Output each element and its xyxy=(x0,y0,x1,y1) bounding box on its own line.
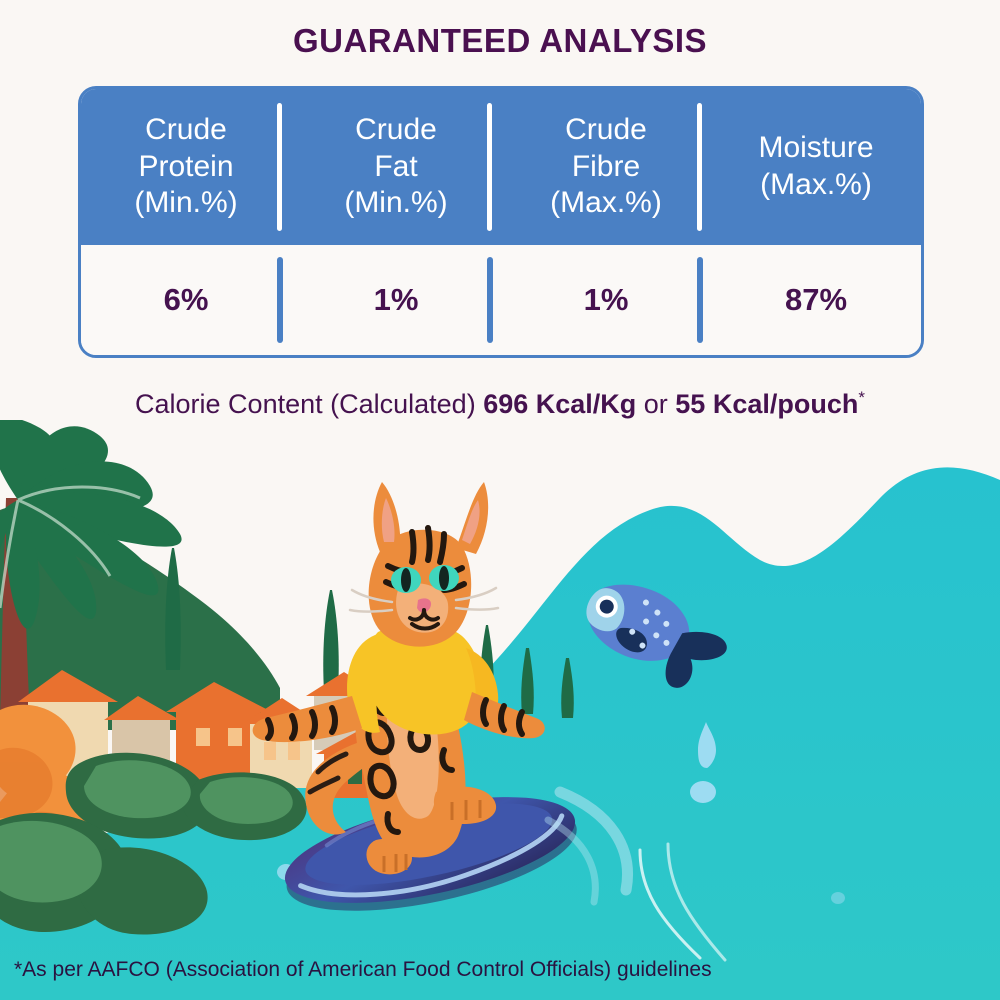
header-line: Fibre xyxy=(572,149,640,186)
header-line: Protein xyxy=(138,149,233,186)
calorie-asterisk: * xyxy=(858,388,865,407)
header-line: Crude xyxy=(565,112,647,149)
value-divider-2 xyxy=(487,257,493,343)
header-line: (Max.%) xyxy=(550,185,662,222)
header-line: (Max.%) xyxy=(760,167,872,204)
header-cell-moisture: Moisture (Max.%) xyxy=(711,89,921,245)
header-cell-crude-fat: Crude Fat (Min.%) xyxy=(291,89,501,245)
header-cell-crude-protein: Crude Protein (Min.%) xyxy=(81,89,291,245)
value-divider-3 xyxy=(697,257,703,343)
calorie-separator: or xyxy=(636,389,675,419)
header-line: Moisture xyxy=(758,130,873,167)
value-cell-crude-fibre: 1% xyxy=(501,245,711,355)
header-line: (Min.%) xyxy=(344,185,447,222)
calorie-value-per-pouch: 55 Kcal/pouch xyxy=(675,389,858,419)
table-header-row: Crude Protein (Min.%) Crude Fat (Min.%) … xyxy=(81,89,921,245)
header-cell-crude-fibre: Crude Fibre (Max.%) xyxy=(501,89,711,245)
header-line: (Min.%) xyxy=(134,185,237,222)
calorie-content-line: Calorie Content (Calculated) 696 Kcal/Kg… xyxy=(0,388,1000,420)
header-line: Fat xyxy=(374,149,417,186)
value-divider-1 xyxy=(277,257,283,343)
guaranteed-analysis-table: Crude Protein (Min.%) Crude Fat (Min.%) … xyxy=(78,86,924,358)
header-divider-2 xyxy=(487,103,492,231)
header-line: Crude xyxy=(355,112,437,149)
footnote-aafco: *As per AAFCO (Association of American F… xyxy=(14,958,712,982)
calorie-value-per-kg: 696 Kcal/Kg xyxy=(483,389,636,419)
value-cell-crude-fat: 1% xyxy=(291,245,501,355)
guaranteed-analysis-panel: GUARANTEED ANALYSIS Crude Protein (Min.%… xyxy=(0,0,1000,1000)
calorie-prefix: Calorie Content (Calculated) xyxy=(135,389,483,419)
value-cell-crude-protein: 6% xyxy=(81,245,291,355)
page-title: GUARANTEED ANALYSIS xyxy=(0,22,1000,60)
illustration-surfing-cat xyxy=(0,420,1000,1000)
header-divider-1 xyxy=(277,103,282,231)
table-value-row: 6% 1% 1% 87% xyxy=(81,245,921,355)
header-line: Crude xyxy=(145,112,227,149)
value-cell-moisture: 87% xyxy=(711,245,921,355)
header-divider-3 xyxy=(697,103,702,231)
